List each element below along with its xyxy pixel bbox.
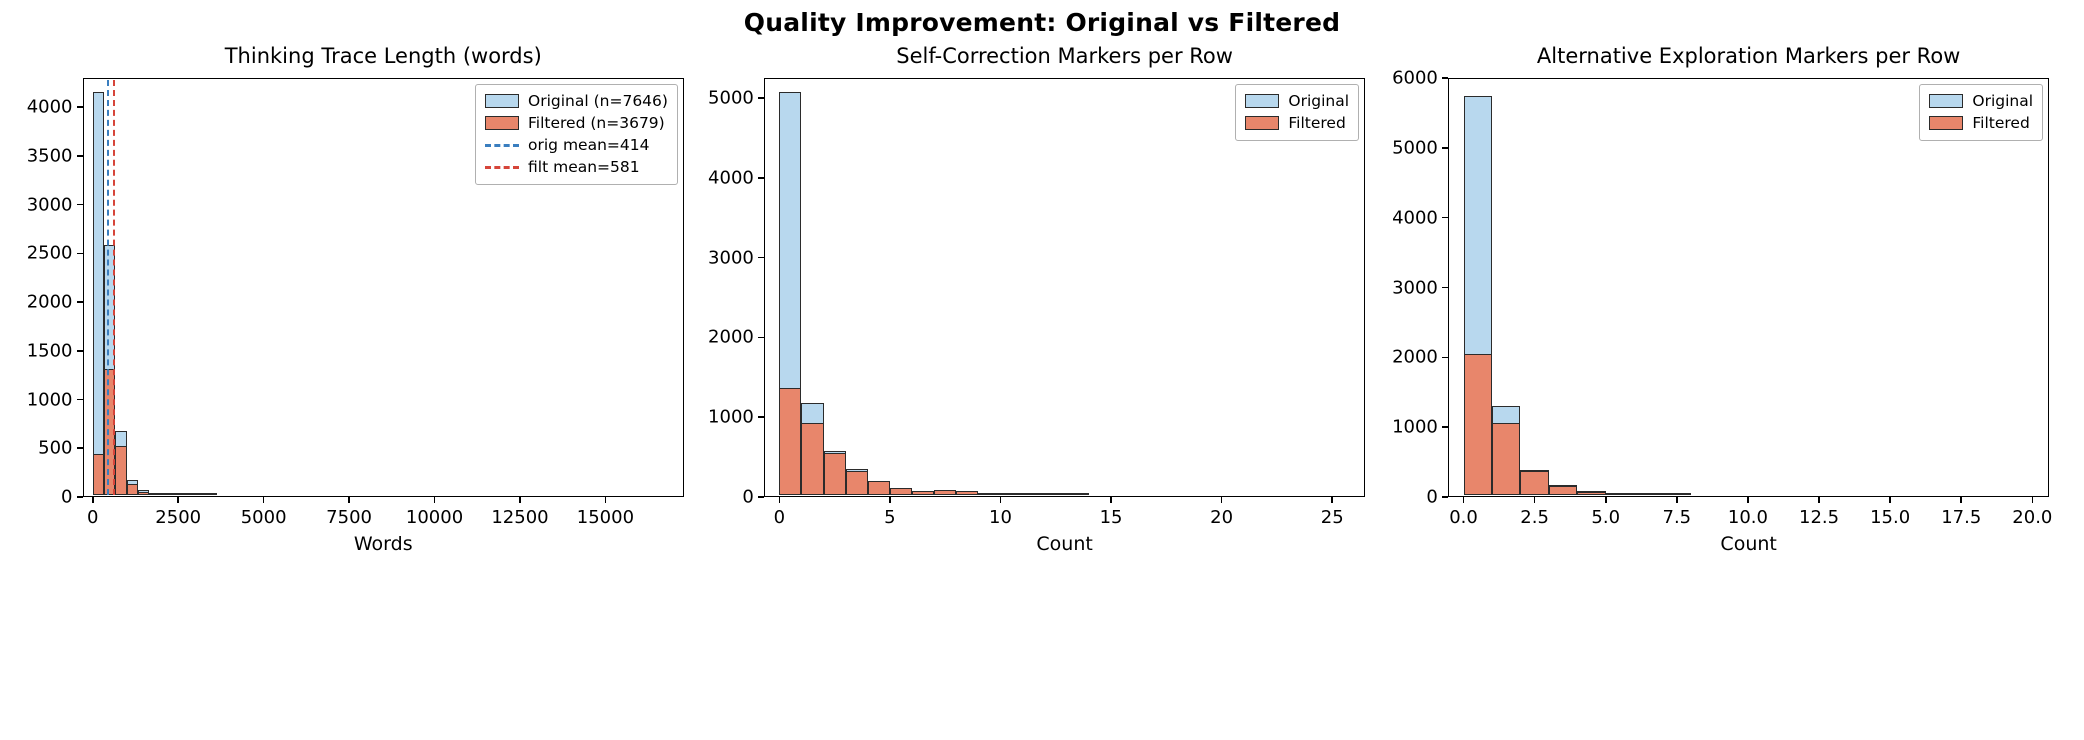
figure-root: Quality Improvement: Original vs Filtere… bbox=[0, 0, 2084, 740]
histogram-bar bbox=[1663, 493, 1691, 495]
histogram-bar bbox=[138, 492, 149, 496]
histogram-bar bbox=[956, 491, 978, 495]
histogram-bar bbox=[868, 481, 890, 495]
x-tick-label: 20.0 bbox=[2012, 507, 2052, 528]
x-axis-label: Count bbox=[1720, 533, 1776, 555]
histogram-bar bbox=[824, 453, 846, 495]
subplot-alternative-exploration-markers: Alternative Exploration Markers per Row0… bbox=[0, 0, 2084, 740]
subplot-title: Alternative Exploration Markers per Row bbox=[1448, 44, 2050, 68]
legend-item: Filtered bbox=[1929, 113, 2033, 133]
x-tick-label: 15.0 bbox=[1870, 507, 1910, 528]
x-tick bbox=[2032, 497, 2034, 503]
histogram-bar bbox=[1634, 493, 1662, 495]
histogram-bar bbox=[1000, 493, 1022, 495]
histogram-bar bbox=[1606, 493, 1634, 495]
histogram-bar bbox=[1549, 486, 1577, 495]
x-tick-label: 2.5 bbox=[1520, 507, 1549, 528]
mean-vline bbox=[113, 80, 115, 496]
y-tick-label: 6000 bbox=[1382, 68, 1438, 89]
histogram-bar bbox=[149, 493, 160, 495]
histogram-bar bbox=[978, 493, 1000, 495]
y-tick bbox=[1442, 147, 1448, 149]
x-tick-label: 12.5 bbox=[1799, 507, 1839, 528]
histogram-bar bbox=[779, 388, 801, 495]
legend-label: Original bbox=[1972, 92, 2033, 110]
histogram-bar bbox=[206, 493, 217, 495]
x-tick-label: 7.5 bbox=[1663, 507, 1692, 528]
histogram-bar bbox=[160, 493, 171, 495]
legend[interactable]: OriginalFiltered bbox=[1919, 84, 2043, 141]
y-tick-label: 0 bbox=[1382, 487, 1438, 508]
y-tick-label: 5000 bbox=[1382, 137, 1438, 158]
histogram-bar bbox=[1464, 354, 1492, 496]
x-tick bbox=[1605, 497, 1607, 503]
histogram-bar bbox=[1067, 493, 1089, 495]
x-tick-label: 5.0 bbox=[1591, 507, 1620, 528]
x-tick bbox=[1747, 497, 1749, 503]
histogram-bar bbox=[93, 454, 104, 495]
legend-item: Original bbox=[1929, 91, 2033, 111]
x-tick bbox=[1534, 497, 1536, 503]
histogram-bar bbox=[1023, 493, 1045, 495]
x-tick bbox=[1463, 497, 1465, 503]
y-tick bbox=[1442, 357, 1448, 359]
x-tick bbox=[1818, 497, 1820, 503]
y-tick bbox=[1442, 426, 1448, 428]
histogram-bar bbox=[1492, 423, 1520, 495]
y-tick-label: 4000 bbox=[1382, 207, 1438, 228]
bars-layer bbox=[1449, 80, 2047, 496]
y-tick bbox=[1442, 77, 1448, 79]
legend-swatch-icon bbox=[1929, 116, 1963, 130]
histogram-bar bbox=[127, 484, 138, 496]
x-tick bbox=[1960, 497, 1962, 503]
legend-label: Filtered bbox=[1972, 114, 2029, 132]
histogram-bar bbox=[1577, 492, 1605, 496]
histogram-bar bbox=[846, 471, 868, 496]
mean-vline bbox=[107, 80, 109, 496]
y-tick-label: 2000 bbox=[1382, 347, 1438, 368]
histogram-bar bbox=[1045, 493, 1067, 495]
histogram-bar bbox=[912, 491, 934, 495]
y-tick-label: 1000 bbox=[1382, 417, 1438, 438]
histogram-bar bbox=[172, 493, 183, 495]
x-tick-label: 17.5 bbox=[1941, 507, 1981, 528]
histogram-bar bbox=[93, 92, 104, 495]
histogram-bar bbox=[801, 423, 823, 495]
histogram-bar bbox=[194, 493, 205, 495]
y-tick bbox=[1442, 287, 1448, 289]
histogram-bar bbox=[934, 490, 956, 495]
histogram-bar bbox=[890, 488, 912, 495]
x-tick-label: 10.0 bbox=[1728, 507, 1768, 528]
x-tick-label: 0.0 bbox=[1449, 507, 1478, 528]
x-tick bbox=[1889, 497, 1891, 503]
histogram-bar bbox=[183, 493, 194, 495]
histogram-bar bbox=[1520, 471, 1548, 495]
y-tick-label: 3000 bbox=[1382, 277, 1438, 298]
histogram-bar bbox=[115, 446, 126, 496]
y-tick bbox=[1442, 496, 1448, 498]
legend-swatch-icon bbox=[1929, 94, 1963, 108]
y-tick bbox=[1442, 217, 1448, 219]
x-tick bbox=[1676, 497, 1678, 503]
